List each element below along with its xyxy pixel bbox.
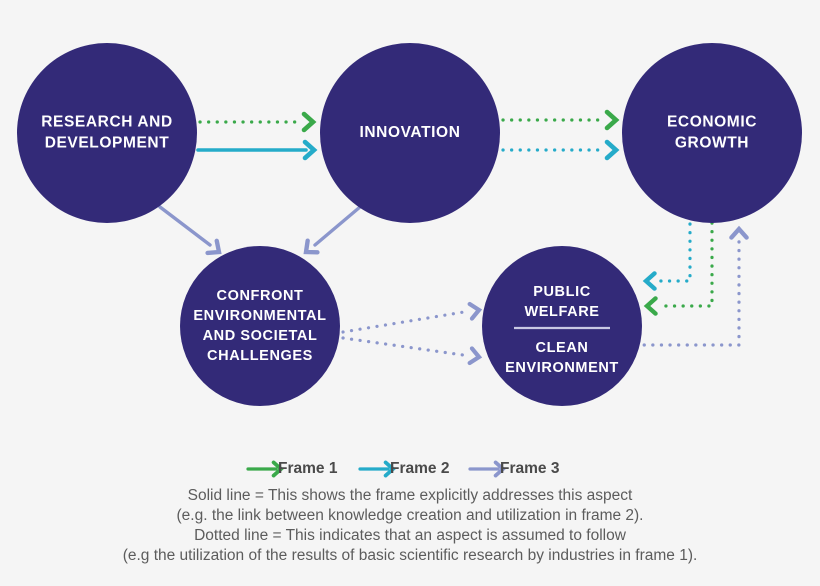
arrowhead-icon <box>607 142 616 158</box>
legend-label: Frame 1 <box>278 460 338 477</box>
welfare-to-growth-frame3 <box>627 240 739 345</box>
growth-to-welfare-frame2 <box>657 224 690 281</box>
node-label-line: CHALLENGES <box>207 348 313 364</box>
node-label-line: CLEAN <box>536 340 589 356</box>
node-confront-environmental-and-societal-challenges[interactable]: CONFRONTENVIRONMENTALAND SOCIETALCHALLEN… <box>180 246 340 406</box>
legend-layer: Frame 1Frame 2Frame 3 <box>248 460 560 477</box>
arrowhead-icon <box>470 303 480 319</box>
diagram-canvas: RESEARCH ANDDEVELOPMENTINNOVATIONECONOMI… <box>0 0 820 586</box>
legend-item-frame-1: Frame 1 <box>248 460 338 477</box>
arrowhead-icon <box>304 114 313 130</box>
node-label-line: DEVELOPMENT <box>45 135 170 152</box>
legend-label: Frame 3 <box>500 460 560 477</box>
caption-layer: Solid line = This shows the frame explic… <box>123 487 698 564</box>
legend-item-frame-3: Frame 3 <box>470 460 560 477</box>
arrowhead-icon <box>647 298 656 313</box>
node-innovation[interactable]: INNOVATION <box>320 43 500 223</box>
caption-line: (e.g. the link between knowledge creatio… <box>177 507 644 524</box>
growth-to-welfare-frame1 <box>658 223 712 306</box>
node-research-and-development[interactable]: RESEARCH ANDDEVELOPMENT <box>17 43 197 223</box>
node-circle <box>180 246 340 406</box>
innovation-to-confront-frame3 <box>315 207 360 245</box>
arrowhead-icon <box>607 112 616 128</box>
node-label-line: GROWTH <box>675 135 749 152</box>
node-label-line: ENVIRONMENTAL <box>193 308 326 324</box>
arrowhead-icon <box>470 348 480 364</box>
node-label-line: INNOVATION <box>359 124 460 141</box>
node-public-welfare-clean-environment[interactable]: PUBLICWELFARECLEANENVIRONMENT <box>482 246 642 406</box>
arrowhead-icon <box>731 229 746 238</box>
node-circle <box>622 43 802 223</box>
node-circle <box>482 246 642 406</box>
rd-to-confront-frame3 <box>160 207 210 245</box>
node-label-line: RESEARCH AND <box>41 114 173 131</box>
diagram-svg: RESEARCH ANDDEVELOPMENTINNOVATIONECONOMI… <box>0 0 820 586</box>
legend-item-frame-2: Frame 2 <box>360 460 449 477</box>
node-label-line: AND SOCIETAL <box>203 328 318 344</box>
node-economic-growth[interactable]: ECONOMICGROWTH <box>622 43 802 223</box>
arrowhead-icon <box>646 273 655 288</box>
confront-to-welfare-upper-frame3 <box>343 311 470 332</box>
caption-line: (e.g the utilization of the results of b… <box>123 547 698 564</box>
node-label-line: WELFARE <box>524 304 599 320</box>
node-circle <box>17 43 197 223</box>
legend-label: Frame 2 <box>390 460 449 477</box>
node-label-line: PUBLIC <box>533 284 591 300</box>
caption-line: Solid line = This shows the frame explic… <box>188 487 633 504</box>
confront-to-welfare-lower-frame3 <box>343 338 470 356</box>
node-label-line: ENVIRONMENT <box>505 360 619 376</box>
nodes-layer: RESEARCH ANDDEVELOPMENTINNOVATIONECONOMI… <box>17 43 802 406</box>
node-label-line: ECONOMIC <box>667 114 757 131</box>
caption-line: Dotted line = This indicates that an asp… <box>194 527 627 544</box>
node-label-line: CONFRONT <box>217 288 304 304</box>
